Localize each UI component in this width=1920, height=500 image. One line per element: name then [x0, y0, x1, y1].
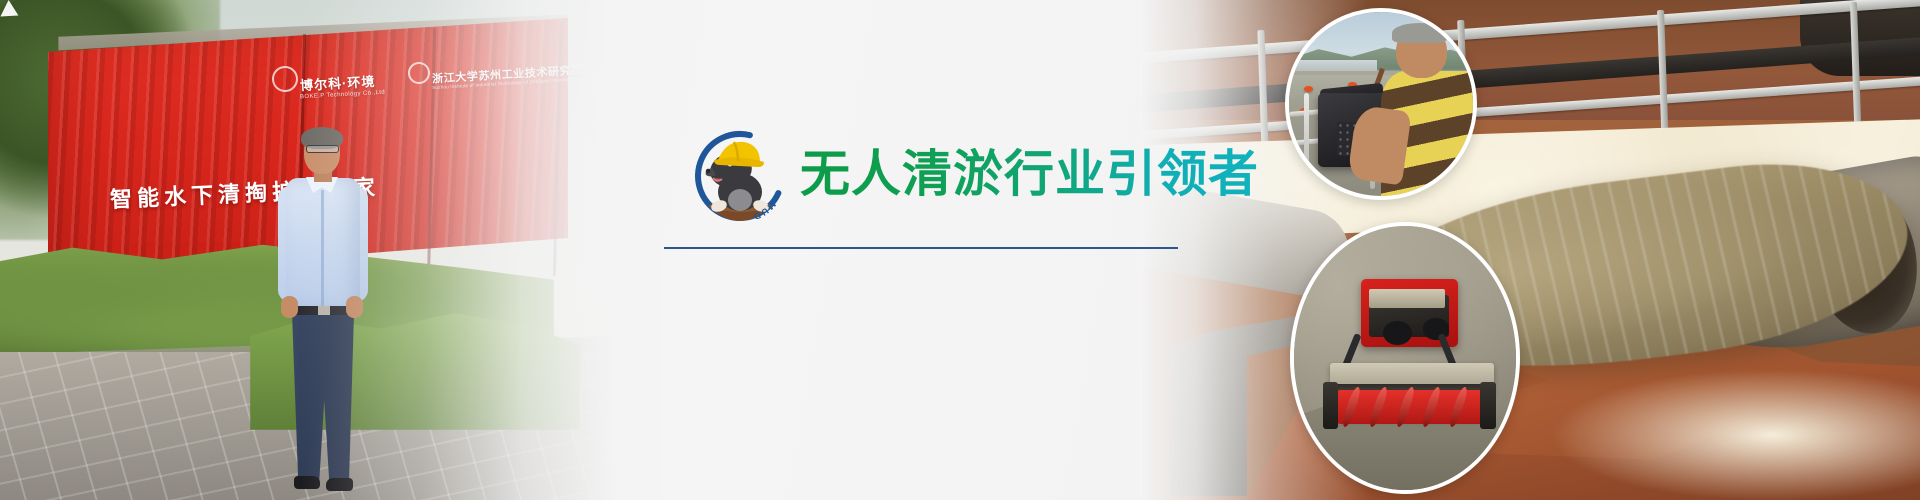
auger-end-cap: [1480, 382, 1496, 430]
title-divider: [664, 247, 1178, 249]
left-hand: [281, 296, 298, 318]
hero-banner: 博尔科·环境 BOKE.P Technology Co.,Ltd 浙江大学苏州工…: [0, 0, 1920, 500]
operator-with-remote-control-photo: [1285, 8, 1477, 200]
mud-mole-logo-svg: MUD MOLE: [686, 122, 794, 230]
operator-cap: [1392, 23, 1447, 43]
left-photo-fade-overlay: [300, 0, 660, 500]
dredging-robot-photo: [1290, 222, 1520, 494]
robot-wheel: [1383, 321, 1412, 345]
page-title: 无人清淤行业引领者: [800, 134, 1259, 206]
container-and-engineer-photo: 博尔科·环境 BOKE.P Technology Co.,Ltd 浙江大学苏州工…: [0, 0, 660, 500]
slogan-marker-icon: [0, 0, 18, 16]
buoy-marker: [1304, 86, 1313, 92]
foam-patch: [1520, 360, 1920, 500]
auger-end-cap: [1323, 382, 1339, 430]
mud-mole-logo[interactable]: MUD MOLE: [686, 122, 794, 230]
robot-top-plate: [1369, 289, 1444, 307]
center-content: MUD MOLE 无人清淤行业引领者: [660, 0, 1260, 500]
railing-post: [1304, 93, 1309, 189]
